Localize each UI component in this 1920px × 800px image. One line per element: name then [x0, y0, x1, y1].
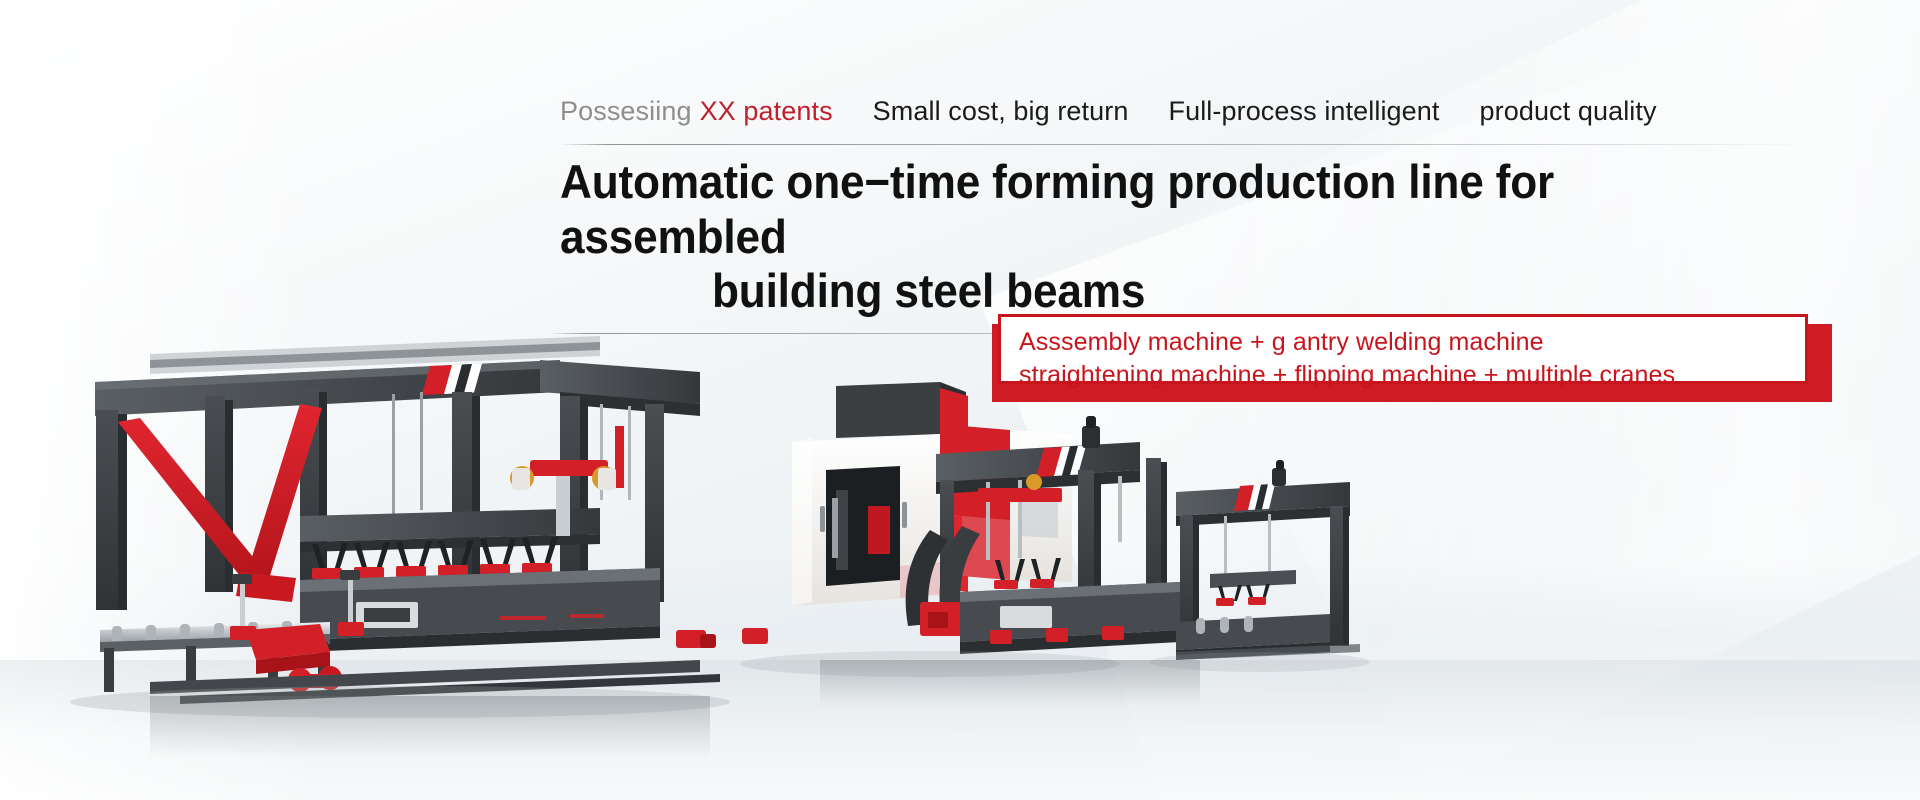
callout-line-1: Asssembly machine + g antry welding mach…: [1019, 326, 1805, 359]
headline-line-1: Automatic one−time forming production li…: [560, 155, 1773, 264]
tagline-item-3: Full-process intelligent: [1168, 96, 1439, 127]
tagline-row: Possesiing XX patents Small cost, big re…: [560, 96, 1850, 138]
banner-text-block: Possesiing XX patents Small cost, big re…: [560, 96, 1850, 334]
tagline-item-2: Small cost, big return: [873, 96, 1129, 127]
callout-box: Asssembly machine + g antry welding mach…: [998, 314, 1808, 384]
headline-line-2: building steel beams: [712, 264, 1782, 319]
tagline-possessing: Possesiing: [560, 96, 692, 127]
tagline-item-4: product quality: [1480, 96, 1657, 127]
tagline-patents: XX patents: [700, 96, 833, 127]
callout-line-2: straightening machine + flipping machine…: [1019, 359, 1805, 392]
promo-banner: Possesiing XX patents Small cost, big re…: [0, 0, 1920, 800]
divider-top: [560, 144, 1815, 145]
equipment-callout: Asssembly machine + g antry welding mach…: [992, 314, 1838, 402]
